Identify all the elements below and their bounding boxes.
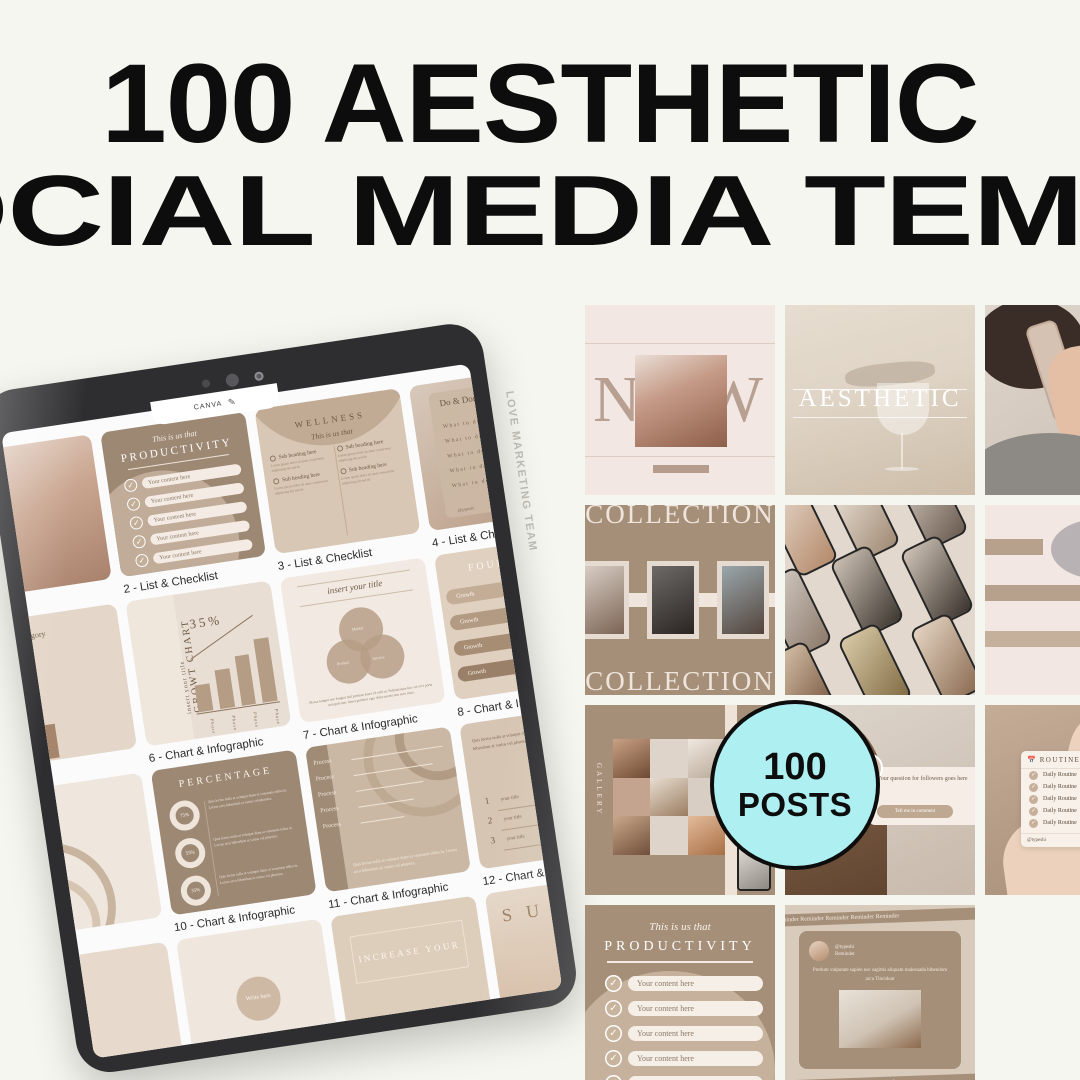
phone-mock [829,544,905,639]
calendar-icon: 📅 [1027,756,1036,764]
checklist-row: ✓Your content here [605,1050,763,1067]
post-title: AESTHETIC [785,385,975,413]
template-cell[interactable]: CHART insert your title 9 - Chart & Info… [1,773,165,958]
reminder-meta: @typeshi Reminder [835,944,855,959]
post-title-large: PRODUCTIVITY [585,939,775,955]
checklist-text: Your content here [628,1001,763,1016]
write-here-badge: Write here [234,974,284,1024]
checklist-text: Your content here [628,1076,763,1080]
routine-card-footer: @typeshi ♥ [1021,833,1080,847]
template-body: Heading here [1,686,119,713]
template-cell[interactable]: Process Process Process Process Process … [305,726,474,911]
template-thumb-do-dont[interactable]: Do & Don't What to do What to do What to… [409,365,563,531]
post-productivity[interactable]: This is us that PRODUCTIVITY ✓Your conte… [585,905,775,1080]
x-tick: Phase [200,718,217,736]
phone-mock [899,534,975,629]
check-icon: ✓ [123,478,138,493]
donut-chart: 55% [173,836,207,870]
stat-label: Growth [467,668,486,677]
bullet-icon [336,445,343,452]
quadrant-item: Sub heading hereLorem ipsum dolor sit am… [273,470,338,497]
step-label: your title [503,815,522,823]
stat-label: Growth [456,591,475,600]
check-icon: ✓ [605,975,622,992]
page-title: 100 AESTHETIC SOCIAL MEDIA TEMPLATES [0,0,1080,257]
template-thumb-blank[interactable] [22,942,188,1059]
template-thumb-process[interactable]: Process Process Process Process Process … [305,726,471,892]
handle-text: @typeshi [835,944,855,952]
floating-app-label: CANVA [193,400,222,411]
template-cell[interactable]: Do & Don't What to do What to do What to… [409,365,563,550]
bar [234,654,256,706]
template-body: Heading here [1,660,115,687]
donut-chart: 35% [179,874,213,908]
template-thumb-photo-arm[interactable]: ◉ [1,434,112,600]
check-icon: ✓ [605,1025,622,1042]
gallery-mosaic [613,739,725,855]
checklist-text: Your content here [628,1026,763,1041]
bullet-icon [269,455,276,462]
x-tick: Phase [264,708,281,726]
checklist-text: Your content here [628,976,763,991]
post-collection[interactable]: COLLECTION COLLECTION [585,505,775,695]
donut-caption: Quis lectus nulla at volutpat diam ut ve… [219,861,306,886]
template-cell[interactable]: S U M [485,872,563,1045]
routine-item: ✓Daily Routine [1021,817,1080,829]
reminder-body: Pretium vulputate sapien nec sagittis al… [809,967,951,984]
stat-value: 20% [558,577,563,585]
routine-item: ✓Daily Routine [1021,805,1080,817]
check-icon: ✓ [1029,819,1038,828]
post-routine[interactable]: 📅 ROUTINE Just Now ✓Daily Routine ✓Daily… [985,705,1080,895]
step-label: your title [500,795,519,803]
template-thumb-summer[interactable]: S U M [485,872,563,1038]
tablet-mockup: CANVA ✎ ◉ This is us that PRODUCTIVI [0,317,597,1080]
checklist-row: ✓Your content here [605,1025,763,1042]
step-label: your title [506,835,525,843]
template-thumb-chart[interactable]: CHART insert your title [1,773,162,939]
sensor-dot-icon [201,379,210,388]
template-cell[interactable] [22,942,189,1059]
glass-stem [901,433,903,469]
stat-label: Growth [463,642,482,651]
routine-item: ✓Daily Routine [1021,793,1080,805]
template-subtitle: insert your title [11,820,42,829]
ticker-top: Reminder Reminder Reminder Reminder Remi… [785,907,975,927]
quadrant-item: Sub heading hereLorem ipsum dolor sit am… [269,447,334,474]
routine-title: ROUTINE [1040,756,1080,764]
stat-label: Growth [460,617,479,626]
checklist-row: ✓Your content here [605,1000,763,1017]
donut-caption: Quis lectus nulla at volutpat diam ut ve… [213,824,300,849]
quadrant-list: Sub heading hereLorem ipsum dolor sit am… [269,437,404,497]
checklist-row: ✓Your content here [605,975,763,992]
template-body: Massa tempor nec feugiat nisl pretium fu… [308,682,434,712]
person-shoulder [985,433,1080,495]
decorative-square-fill [21,724,60,763]
template-title: Name this category [1,628,46,649]
post-stripes[interactable] [985,505,1080,695]
check-icon: ✓ [605,1075,622,1080]
bar [214,668,234,709]
pen-icon: ✎ [227,396,237,408]
template-title: CHART [9,802,57,821]
checklist-row: ✓Your content here [605,1075,763,1080]
handle-text: @typeshi [1027,838,1046,843]
check-icon: ✓ [605,1000,622,1017]
template-cell[interactable]: This is us that PRODUCTIVITY ✓Your conte… [100,411,269,596]
template-thumb-four-bars[interactable]: FOUR BARS Growth20% Growth30% Growth40% … [434,534,562,700]
gallery-vertical-label: GALLERY [595,763,603,816]
template-cell[interactable]: insert your title Market Product Service… [280,557,449,742]
template-thumb-wellness[interactable]: WELLNESS This is us that Sub heading her… [254,388,420,554]
template-cell[interactable]: Quis lectus nulla at volutpat diam ut ve… [459,703,562,888]
post-new[interactable]: N W [585,305,775,495]
template-grid: ◉ This is us that PRODUCTIVITY ✓Your con… [1,364,562,1059]
phone-mock [909,612,975,695]
routine-item: ✓Daily Routine [1021,781,1080,793]
stat-row: Growth20% [445,571,562,606]
headline-line-2: SOCIAL MEDIA TEMPLATES [0,155,1080,257]
step-number: 3 [490,835,496,846]
flash-dot-icon [253,371,263,381]
step-number: 2 [487,815,493,826]
template-thumb-name-category[interactable]: Name this category Heading here Heading … [1,603,137,769]
decorative-square-outline [2,717,49,757]
decorative-quadrant [534,703,562,783]
template-title: S U M [500,895,562,927]
x-tick-labels: Phase Phase Phase Phase [200,708,281,736]
checklist-text: Your content here [628,1051,763,1066]
template-thumb-productivity[interactable]: This is us that PRODUCTIVITY ✓Your conte… [100,411,266,577]
chart-percent: 35% [188,612,223,633]
post-reminder[interactable]: Reminder Reminder Reminder Reminder Remi… [785,905,975,1080]
bar [254,637,278,703]
check-icon: ✓ [135,553,150,568]
template-thumb-increase[interactable]: INCREASE YOUR [330,896,496,1059]
ticker-bottom: Reminder Reminder Reminder Reminder Remi… [785,1073,975,1080]
template-cell[interactable]: FOUR BARS Growth20% Growth30% Growth40% … [434,534,562,719]
badge-label: POSTS [738,788,852,823]
check-icon: ✓ [1029,783,1038,792]
reminder-heading: Reminder [835,951,855,959]
camera-lens-icon [224,372,239,387]
template-cell[interactable]: ◉ [1,434,114,619]
bar [195,684,214,712]
template-thumb-write-here[interactable]: Write here [176,919,342,1059]
template-cell[interactable]: insert your title GROWT CHART 35% [125,580,294,765]
check-icon: ✓ [129,516,144,531]
checklist: ✓Your content here ✓Your content here ✓Y… [605,975,763,1080]
check-icon: ✓ [132,534,147,549]
check-icon: ✓ [605,1050,622,1067]
routine-item: ✓Daily Routine [1021,769,1080,781]
posts-count-badge: 100 POSTS [710,700,880,870]
template-body: Quis lectus nulla at volutpat diam ut ve… [352,845,459,876]
template-thumb-venn[interactable]: insert your title Market Product Service… [280,557,446,723]
donut-chart: 75% [168,798,202,832]
post-dash-bar [653,465,709,473]
post-word-left: N [593,367,641,433]
routine-card-header: 📅 ROUTINE Just Now [1021,751,1080,769]
answer-button[interactable]: Tell me in comment [877,805,953,818]
template-cell[interactable]: Write here [176,919,343,1059]
template-title: FOUR BARS [436,546,563,578]
post-grid: N W AESTHETIC COLLECTION COLLECTION [585,305,1080,1080]
post-title-top: COLLECTION [585,505,775,530]
template-thumb-steps[interactable]: Quis lectus nulla at volutpat diam ut ve… [459,703,562,869]
post-phone-person[interactable] [985,305,1080,495]
template-cell[interactable]: Name this category Heading here Heading … [1,603,140,788]
check-icon: ✓ [1029,807,1038,816]
template-thumb-percentage[interactable]: PERCENTAGE 75% 55% 35% Quis lectus nulla… [151,749,317,915]
template-thumb-growth-chart[interactable]: insert your title GROWT CHART 35% [125,580,291,746]
glass-foot [885,467,919,471]
reminder-card-header: @typeshi Reminder [809,941,951,961]
question-card[interactable]: Your question for followers goes here Te… [869,767,975,825]
question-text: Your question for followers goes here [877,775,968,784]
post-title-bottom: COLLECTION [585,666,775,695]
template-title: INCREASE YOUR [349,920,469,984]
tablet-body: CANVA ✎ ◉ This is us that PRODUCTIVI [0,320,581,1077]
x-tick: Phase [221,715,238,733]
bullet-icon [340,468,347,475]
reminder-image [839,990,921,1048]
quadrant-item: Sub heading hereLorem ipsum dolor sit am… [340,460,405,487]
template-cell[interactable]: PERCENTAGE 75% 55% 35% Quis lectus nulla… [151,749,320,934]
avatar [809,941,829,961]
badge-count: 100 [763,748,826,788]
oval-shape [1051,519,1080,579]
check-icon: ✓ [1029,771,1038,780]
phone-mock [837,622,913,695]
divider [607,961,753,963]
post-phone-mockups[interactable] [785,505,975,695]
bullet-icon [273,478,280,485]
donut-caption: Quis lectus nulla at volutpat diam ut ve… [207,786,294,811]
post-aesthetic[interactable]: AESTHETIC [785,305,975,495]
headline-line-1: 100 AESTHETIC [0,0,1080,155]
stat-value: 30% [562,602,563,610]
routine-card[interactable]: 📅 ROUTINE Just Now ✓Daily Routine ✓Daily… [1021,751,1080,847]
bar-series [188,631,277,712]
template-body: Quis lectus nulla at volutpat diam ut ve… [471,719,562,753]
post-photo [635,355,727,447]
post-title-small: This is us that [585,921,775,933]
tablet-screen: ◉ This is us that PRODUCTIVITY ✓Your con… [1,364,562,1059]
check-icon: ✓ [1029,795,1038,804]
step-number: 1 [484,795,490,806]
x-tick: Phase [243,712,260,730]
template-cell[interactable]: WELLNESS This is us that Sub heading her… [254,388,423,573]
reminder-card[interactable]: @typeshi Reminder Pretium vulputate sapi… [799,931,961,1069]
template-cell[interactable]: INCREASE YOUR [330,896,497,1059]
check-icon: ✓ [126,497,141,512]
checklist: ✓Your content here ✓Your content here ✓Y… [123,462,254,573]
